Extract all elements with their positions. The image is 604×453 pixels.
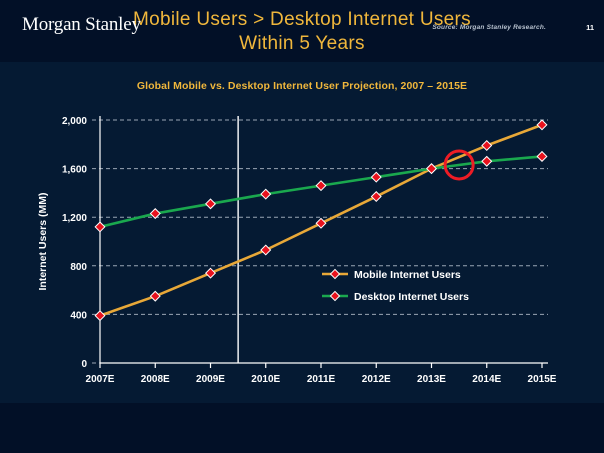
x-tick-label: 2014E [472, 374, 501, 385]
x-tick-label: 2012E [362, 374, 391, 385]
y-tick-labels-group: 04008001,2001,6002,000 [62, 116, 87, 370]
y-tick-label: 2,000 [62, 116, 87, 127]
y-tick-label: 800 [70, 262, 87, 273]
page-number: 11 [586, 23, 594, 32]
data-point-marker [206, 199, 216, 209]
y-tick-label: 0 [81, 359, 87, 370]
line-chart-svg: 04008001,2001,6002,000 2007E2008E2009E20… [0, 62, 604, 403]
series-line-1 [100, 156, 542, 226]
x-tick-label: 2008E [141, 374, 170, 385]
x-tick-label: 2007E [86, 374, 115, 385]
slide-canvas: Mobile Users > Desktop Internet Users Wi… [0, 0, 604, 453]
legend-item-0[interactable]: Mobile Internet Users [322, 269, 461, 281]
data-point-marker [371, 192, 381, 202]
data-point-marker [316, 181, 326, 191]
data-point-marker [427, 164, 437, 174]
data-point-marker [482, 141, 492, 151]
data-point-marker [95, 222, 105, 232]
gridlines-group [92, 120, 548, 363]
data-point-marker [537, 120, 547, 130]
chart-legend[interactable]: Mobile Internet UsersDesktop Internet Us… [322, 269, 469, 303]
x-tick-label: 2011E [307, 374, 336, 385]
legend-item-1[interactable]: Desktop Internet Users [322, 291, 469, 303]
data-point-marker [95, 311, 105, 321]
data-series-group [95, 120, 547, 320]
x-tick-label: 2015E [528, 374, 557, 385]
legend-label: Desktop Internet Users [354, 291, 469, 303]
x-tick-labels-group: 2007E2008E2009E2010E2011E2012E2013E2014E… [86, 374, 557, 385]
data-point-marker [537, 152, 547, 162]
y-tick-label: 400 [70, 310, 87, 321]
data-point-marker [150, 291, 160, 301]
source-note: Source: Morgan Stanley Research. [432, 24, 546, 31]
data-point-marker [261, 245, 271, 255]
data-point-marker [316, 218, 326, 228]
legend-label: Mobile Internet Users [354, 269, 461, 281]
brand-logo: Morgan Stanley [22, 14, 141, 36]
data-point-marker [371, 172, 381, 182]
x-tick-label: 2010E [251, 374, 280, 385]
data-point-marker [206, 268, 216, 278]
data-point-marker [482, 157, 492, 167]
x-tick-label: 2009E [196, 374, 225, 385]
chart-panel: Global Mobile vs. Desktop Internet User … [0, 62, 604, 403]
data-point-marker [261, 189, 271, 199]
y-tick-label: 1,600 [62, 165, 87, 176]
footer-band [0, 403, 604, 453]
axes-group [100, 116, 548, 368]
x-tick-label: 2013E [417, 374, 446, 385]
plot-area: 04008001,2001,6002,000 2007E2008E2009E20… [0, 62, 604, 403]
y-tick-label: 1,200 [62, 213, 87, 224]
y-axis-title: Internet Users (MM) [37, 192, 49, 290]
